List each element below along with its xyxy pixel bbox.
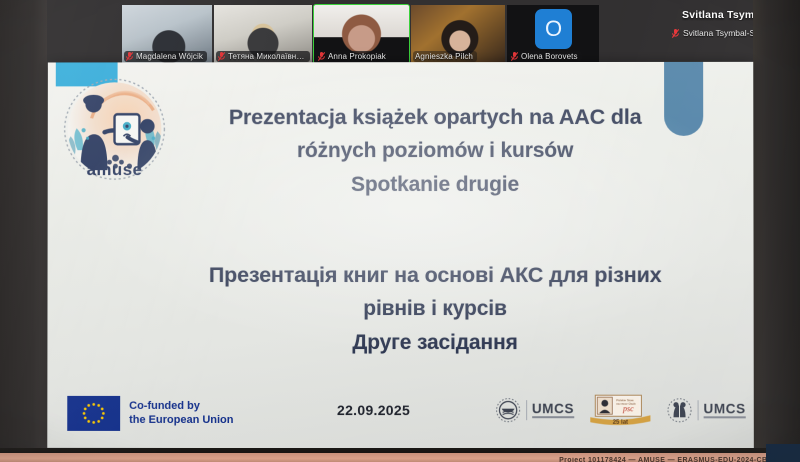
anniversary-label: 25 lat: [613, 420, 628, 426]
participant-tile-1[interactable]: Magdalena Wójcik: [122, 5, 212, 63]
participant-name-2: Тетяна Миколаївна М...: [228, 52, 306, 61]
eu-funding-line-2: the European Union: [129, 413, 233, 427]
partner-logo-anniversary: Polskie Stow. na rzecz Osób psc 25 lat: [587, 394, 653, 426]
participant-avatar-initial: O: [535, 9, 572, 49]
zoom-participant-filmstrip: Magdalena Wójcik Тетяна Миколаївна М... …: [0, 0, 800, 68]
logo-divider: [697, 400, 698, 420]
bottom-right-corner-object: [766, 444, 800, 462]
eu-flag-icon: [67, 396, 120, 431]
anniversary-badge-icon: Polskie Stow. na rzecz Osób psc 25 lat: [587, 394, 653, 426]
screen-bezel-left: [0, 0, 47, 452]
partner-logo-umcs-right: UMCS: [666, 397, 745, 423]
title-uk-line-1: Презентація книг на основі АКС для різни…: [143, 258, 727, 292]
partner-logo-row: UMCS Polskie Stow. na rzecz Osó: [495, 394, 746, 426]
title-pl-line-1: Prezentacja książek opartych na AAC dla: [143, 100, 727, 134]
mic-muted-icon: [672, 29, 679, 38]
slide-title-polish: Prezentacja książek opartych na AAC dla …: [143, 100, 727, 202]
slide-title-ukrainian: Презентація книг на основі АКС для різни…: [143, 258, 727, 360]
bottom-ribbon-strip: Project 101178424 — AMUSE — ERASMUS-EDU-…: [0, 453, 800, 462]
title-pl-line-3: Spotkanie drugie: [143, 168, 727, 202]
slide-date: 22.09.2025: [337, 402, 410, 418]
mic-muted-icon: [126, 52, 133, 61]
participant-tile-5[interactable]: O Olena Borovets: [507, 5, 599, 63]
participant-name-chip-4: Agnieszka Pilch: [413, 51, 477, 62]
participant-tile-4[interactable]: Agnieszka Pilch: [411, 5, 505, 63]
umcs-wordmark-left: UMCS: [532, 402, 574, 418]
photographed-screen: Magdalena Wójcik Тетяна Миколаївна М... …: [0, 0, 800, 462]
mic-muted-icon: [318, 52, 325, 61]
participant-name-4: Agnieszka Pilch: [415, 52, 473, 61]
logo-divider: [526, 400, 527, 420]
ribbon-project-text: Project 101178424 — AMUSE — ERASMUS-EDU-…: [559, 457, 778, 462]
title-uk-line-3: Друге засідання: [143, 326, 727, 360]
umcs-seal-icon: [495, 397, 521, 423]
umcs-wordmark-rule: [532, 416, 574, 418]
partner-logo-umcs-left: UMCS: [495, 397, 574, 423]
participant-name-chip-2: Тетяна Миколаївна М...: [216, 51, 310, 62]
eu-funding-lockup: Co-funded by the European Union: [67, 396, 233, 431]
umcs-wordmark-text: UMCS: [532, 402, 574, 415]
eu-funding-text: Co-funded by the European Union: [129, 400, 233, 427]
participant-tile-2[interactable]: Тетяна Миколаївна М...: [214, 5, 312, 63]
shared-presentation-slide: amuse Prezentacja książek opartych na AA…: [47, 62, 754, 449]
eu-funding-line-1: Co-funded by: [129, 400, 233, 414]
participant-name-chip-3: Anna Prokopiak: [316, 51, 390, 62]
umcs-wordmark-right: UMCS: [703, 402, 745, 418]
participant-name-chip-5: Olena Borovets: [509, 51, 582, 62]
participant-name-5: Olena Borovets: [521, 52, 578, 61]
participant-tile-3-active-speaker[interactable]: Anna Prokopiak: [314, 5, 409, 63]
svg-text:psc: psc: [622, 404, 634, 413]
participant-name-chip-1: Magdalena Wójcik: [124, 51, 207, 62]
title-uk-line-2: рівнів і курсів: [143, 292, 727, 326]
participant-name-1: Magdalena Wójcik: [136, 52, 203, 61]
participant-name-3: Anna Prokopiak: [328, 52, 386, 61]
screen-bezel-right: [753, 0, 800, 452]
title-pl-line-2: różnych poziomów i kursów: [143, 134, 727, 168]
umcs-crest-icon: [666, 397, 692, 423]
slide-footer: Co-funded by the European Union 22.09.20…: [47, 392, 754, 439]
mic-muted-icon: [511, 52, 518, 61]
amuse-wordmark: amuse: [87, 160, 143, 179]
mic-muted-icon: [218, 52, 225, 61]
avatar-letter: O: [545, 18, 562, 40]
umcs-wordmark-text: UMCS: [703, 402, 745, 415]
umcs-wordmark-rule: [703, 416, 745, 418]
